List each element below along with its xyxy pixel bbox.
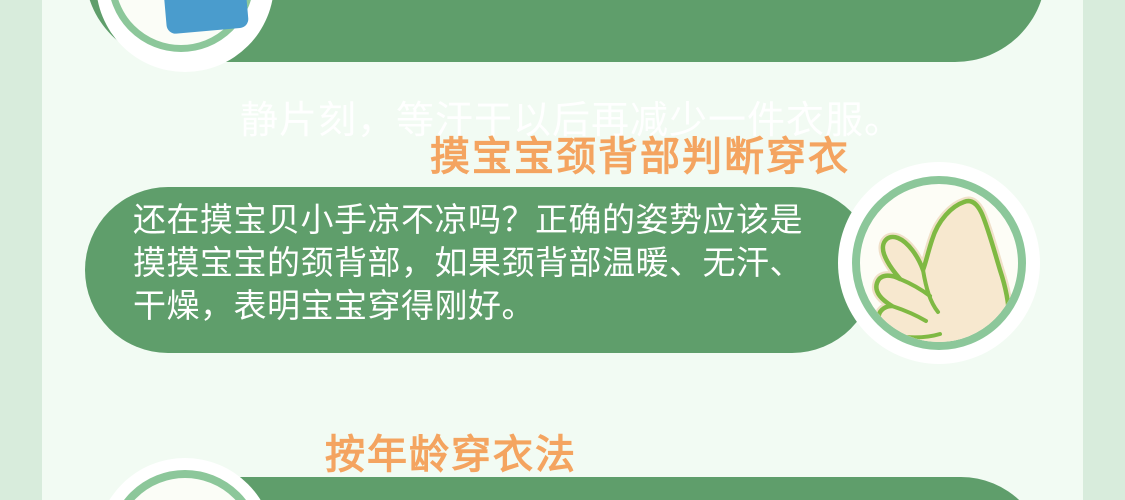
hand-icon [858, 184, 1026, 350]
banner-neck-back-text: 还在摸宝贝小手凉不凉吗？正确的姿势应该是摸摸宝宝的颈背部，如果颈背部温暖、无汗、… [133, 198, 833, 327]
infographic-page: 静片刻，等汗干以后再减少一件衣服。 ★ 摸宝宝颈背部判断穿衣 还在摸宝贝小手凉不… [0, 0, 1125, 500]
heading-neck-back: 摸宝宝颈背部判断穿衣 [430, 124, 850, 182]
badge-blue-card-ring: ★ [108, 0, 254, 52]
heading-by-age: 按年龄穿衣法 [325, 422, 577, 480]
badge-hand-ring [852, 176, 1026, 350]
badge-hand [838, 162, 1040, 364]
blue-card-star-icon: ★ [159, 0, 249, 34]
